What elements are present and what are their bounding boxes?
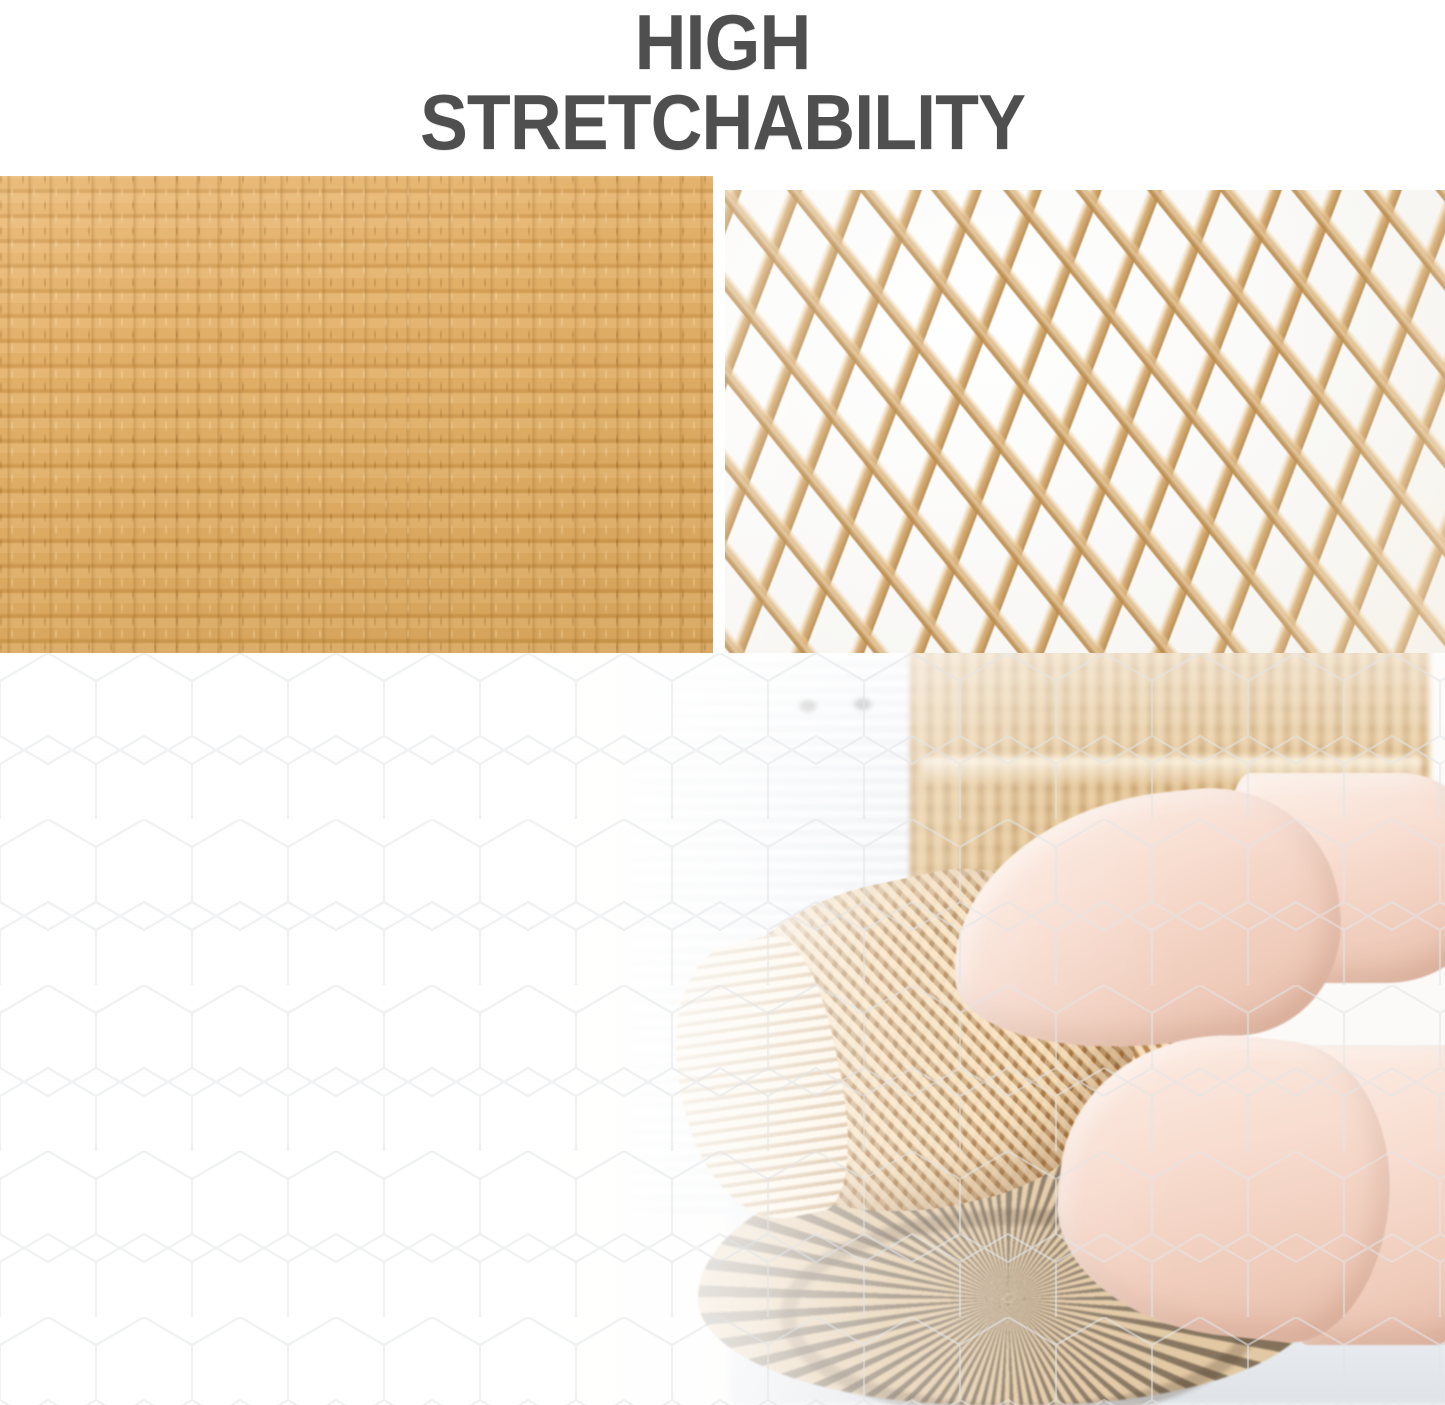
top-photo-strip: [0, 176, 1445, 653]
honeycomb-mesh-texture: [725, 190, 1445, 653]
photo-expanded-honeycomb-mesh: [725, 190, 1445, 653]
header-banner: HIGH STRETCHABILITY: [0, 0, 1445, 176]
photo-compressed-honeycomb-paper: [0, 176, 713, 653]
advantages-content: [0, 653, 1445, 1405]
page-title: HIGH STRETCHABILITY: [58, 0, 1387, 162]
